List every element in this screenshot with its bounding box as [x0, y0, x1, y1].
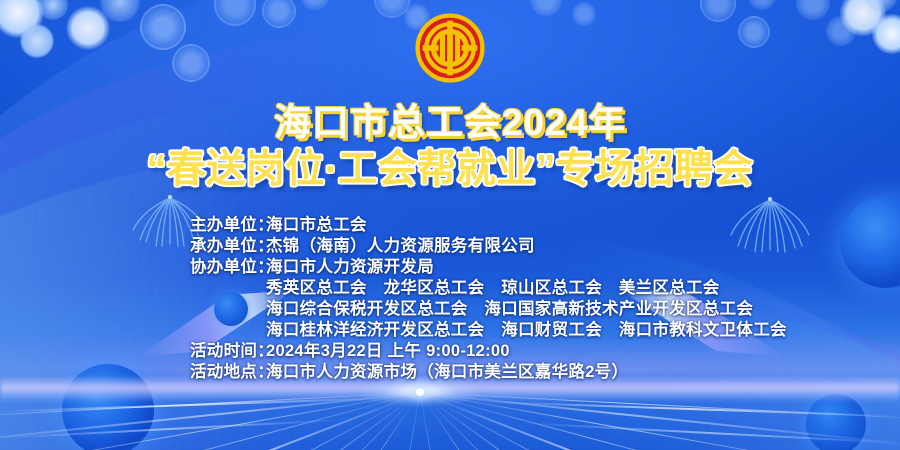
- info-row-coorganizer-cont: 秀英区总工会 龙华区总工会 琼山区总工会 美兰区总工会: [190, 274, 790, 295]
- glow-sphere: [806, 394, 866, 450]
- perspective-streak: [420, 392, 555, 450]
- bokeh-circle: [374, 0, 410, 18]
- bokeh-circle: [172, 44, 210, 82]
- info-row-undertaker: 承办单位： 杰锦（海南）人力资源服务有限公司: [190, 232, 790, 253]
- perspective-streak: [46, 392, 420, 450]
- bokeh-circle: [826, 16, 856, 46]
- bokeh-circle: [700, 0, 736, 22]
- bokeh-circle: [300, 0, 330, 10]
- perspective-streak: [420, 392, 900, 420]
- perspective-streak: [420, 392, 845, 450]
- bokeh-circle: [214, 0, 256, 26]
- horizon-light-bar: [0, 397, 380, 412]
- perspective-streak: [420, 392, 456, 450]
- perspective-streak: [0, 392, 420, 420]
- info-value: 海口市人力资源市场（海口市美兰区嘉华路2号）: [266, 358, 790, 382]
- perspective-streak: [420, 392, 794, 450]
- perspective-streak: [0, 392, 420, 450]
- event-info-block: 主办单位： 海口市总工会 承办单位： 杰锦（海南）人力资源服务有限公司 协办单位…: [190, 211, 790, 379]
- recruitment-poster: 海口市总工会2024年 “春送岗位·工会帮就业”专场招聘会 主办单位： 海口市总…: [0, 0, 900, 450]
- title-line-2: “春送岗位·工会帮就业”专场招聘会: [0, 146, 900, 194]
- info-label: 协办单位：: [190, 253, 266, 277]
- info-row-coorganizer-cont: 海口综合保税开发区总工会 海口国家高新技术产业开发区总工会: [190, 295, 790, 316]
- bokeh-circle: [262, 0, 296, 28]
- bokeh-circle: [572, 2, 596, 26]
- info-row-event-time: 活动时间： 2024年3月22日 上午 9:00-12:00: [190, 337, 790, 358]
- horizon-light-bar: [520, 422, 900, 444]
- bokeh-circle: [864, 0, 898, 12]
- union-emblem-icon: [414, 12, 486, 84]
- info-row-organizer: 主办单位： 海口市总工会: [190, 211, 790, 232]
- horizon-light-bar: [0, 419, 340, 439]
- perspective-streak: [385, 392, 421, 450]
- bokeh-circle: [20, 24, 54, 58]
- bokeh-circle: [872, 14, 900, 54]
- bokeh-circle: [100, 0, 140, 22]
- perspective-streak: [0, 392, 420, 446]
- poster-title-block: 海口市总工会2024年 “春送岗位·工会帮就业”专场招聘会: [0, 100, 900, 194]
- bokeh-circle: [0, 0, 44, 38]
- info-row-coorganizer-cont: 海口桂林洋经济开发区总工会 海口财贸工会 海口市教科文卫体工会: [190, 316, 790, 337]
- perspective-streak: [420, 392, 883, 450]
- perspective-streak: [420, 392, 738, 450]
- bokeh-circle: [38, 0, 68, 20]
- horizon-light-bar: [480, 401, 900, 418]
- perspective-streak: [102, 392, 420, 450]
- glow-sphere: [840, 196, 900, 288]
- bokeh-circle: [738, 16, 770, 48]
- bokeh-circle: [748, 0, 776, 10]
- perspective-streak: [222, 392, 421, 450]
- bokeh-circle: [796, 0, 830, 20]
- perspective-streak: [420, 392, 900, 446]
- title-line-1: 海口市总工会2024年: [0, 100, 900, 146]
- vanishing-spark: [416, 388, 424, 396]
- bokeh-circle: [530, 0, 562, 16]
- info-row-coorganizer: 协办单位： 海口市人力资源开发局: [190, 253, 790, 274]
- perspective-streak: [420, 392, 679, 450]
- perspective-streak: [420, 392, 619, 450]
- acftu-emblem: [414, 12, 486, 84]
- glow-sphere: [62, 364, 154, 450]
- bokeh-circle: [66, 6, 110, 50]
- bokeh-circle: [840, 0, 886, 36]
- info-label: 活动地点：: [190, 358, 266, 382]
- perspective-streak: [0, 392, 420, 450]
- perspective-streak: [285, 392, 420, 450]
- bokeh-circle: [140, 4, 186, 50]
- info-row-event-location: 活动地点： 海口市人力资源市场（海口市美兰区嘉华路2号）: [190, 358, 790, 379]
- perspective-streak: [161, 392, 420, 450]
